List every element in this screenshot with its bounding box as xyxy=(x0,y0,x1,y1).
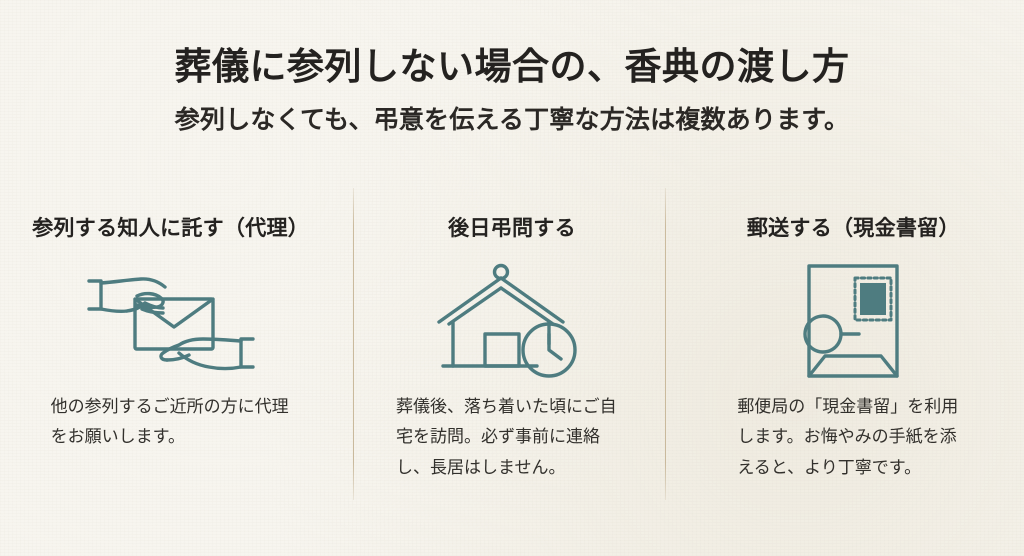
method-column-proxy: 参列する知人に託す（代理） xyxy=(0,186,341,516)
house-with-clock-icon xyxy=(433,260,591,382)
header: 葬儀に参列しない場合の、香典の渡し方 参列しなくても、弔意を伝える丁寧な方法は複… xyxy=(0,0,1024,135)
method-title-proxy: 参列する知人に託す（代理） xyxy=(32,186,309,242)
method-icon-wrap-registered-mail xyxy=(683,242,1024,392)
method-body-registered-mail: 郵便局の「現金書留」を利用します。お悔やみの手紙を添えると、より丁寧です。 xyxy=(737,392,969,483)
method-column-registered-mail: 郵送する（現金書留） xyxy=(683,186,1024,516)
method-title-later-visit: 後日弔問する xyxy=(448,186,576,242)
hands-exchanging-envelope-icon xyxy=(85,265,257,377)
page-title: 葬儀に参列しない場合の、香典の渡し方 xyxy=(0,0,1024,89)
method-title-registered-mail: 郵送する（現金書留） xyxy=(747,186,960,242)
page-subtitle: 参列しなくても、弔意を伝える丁寧な方法は複数あります。 xyxy=(0,89,1024,135)
methods-columns: 参列する知人に託す（代理） xyxy=(0,186,1024,516)
method-body-later-visit: 葬儀後、落ち着いた頃にご自宅を訪問。必ず事前に連絡し、長居はしません。 xyxy=(396,392,628,483)
method-icon-wrap-later-visit xyxy=(341,242,682,392)
envelope-with-stamp-icon xyxy=(799,260,907,382)
method-icon-wrap-proxy xyxy=(0,242,341,392)
method-body-proxy: 他の参列するご近所の方に代理をお願いします。 xyxy=(51,392,291,453)
infographic-root: 葬儀に参列しない場合の、香典の渡し方 参列しなくても、弔意を伝える丁寧な方法は複… xyxy=(0,0,1024,556)
method-column-later-visit: 後日弔問する xyxy=(341,186,682,516)
